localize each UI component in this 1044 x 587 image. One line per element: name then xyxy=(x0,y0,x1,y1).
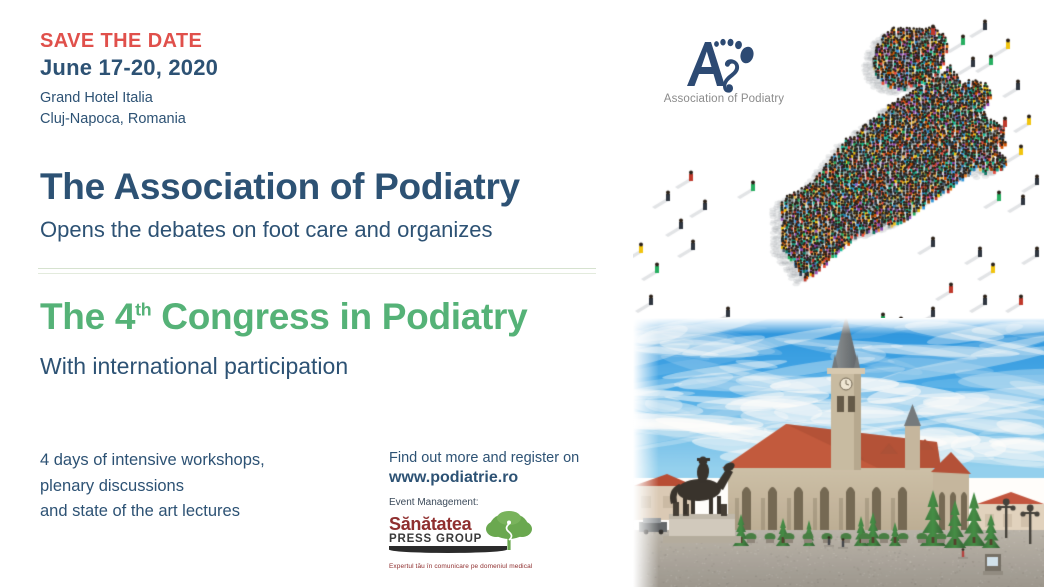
cluj-napoca-church-photo xyxy=(633,318,1044,587)
venue-block: Grand Hotel Italia Cluj-Napoca, Romania xyxy=(40,88,186,129)
save-the-date-label: SAVE THE DATE xyxy=(40,31,202,51)
divider-line-top xyxy=(38,268,596,269)
congress-subtitle: With international participation xyxy=(40,355,348,378)
event-dates: June 17-20, 2020 xyxy=(40,57,218,79)
ap-footprint-monogram-icon xyxy=(681,36,773,94)
event-management-block: Event Management: Sănătatea PRESS GROUP xyxy=(389,498,539,570)
left-text-column: SAVE THE DATE June 17-20, 2020 Grand Hot… xyxy=(0,0,640,587)
sanatatea-tagline: Expertul tău în comunicare pe domeniul m… xyxy=(389,563,539,570)
association-subtitle: Opens the debates on foot care and organ… xyxy=(40,219,493,241)
sanatatea-wordmark: Sănătatea xyxy=(389,516,482,533)
congress-title-rest: Congress in Podiatry xyxy=(151,296,527,337)
congress-title-prefix: The 4 xyxy=(40,296,135,337)
sanatatea-logo-text: Sănătatea PRESS GROUP xyxy=(389,516,482,546)
registration-lead: Find out more and register on xyxy=(389,449,579,467)
registration-block: Find out more and register on www.podiat… xyxy=(389,449,579,489)
association-title: The Association of Podiatry xyxy=(40,168,520,205)
venue-name: Grand Hotel Italia xyxy=(40,88,186,109)
association-logo-caption: Association of Podiatry xyxy=(649,93,799,105)
registration-url[interactable]: www.podiatrie.ro xyxy=(389,468,579,489)
venue-city: Cluj-Napoca, Romania xyxy=(40,109,186,130)
workshops-line-3: and state of the art lectures xyxy=(40,499,265,525)
congress-title-ordinal: th xyxy=(135,300,151,320)
divider-line-bottom xyxy=(38,273,596,274)
divider xyxy=(38,268,596,274)
event-management-label: Event Management: xyxy=(389,498,539,508)
photo-left-fade xyxy=(633,318,659,587)
cluj-napoca-church-canvas xyxy=(633,318,1044,587)
congress-promo-banner: SAVE THE DATE June 17-20, 2020 Grand Hot… xyxy=(0,0,1044,587)
workshops-line-2: plenary discussions xyxy=(40,474,265,500)
press-group-wordmark: PRESS GROUP xyxy=(389,533,482,546)
workshops-description: 4 days of intensive workshops, plenary d… xyxy=(40,448,265,525)
tree-caduceus-icon xyxy=(481,510,537,554)
photo-top-fade xyxy=(633,318,1044,334)
sanatatea-press-group-logo: Sănătatea PRESS GROUP xyxy=(389,512,539,558)
workshops-line-1: 4 days of intensive workshops, xyxy=(40,448,265,474)
association-of-podiatry-logo: Association of Podiatry xyxy=(649,36,799,114)
congress-title: The 4th Congress in Podiatry xyxy=(40,298,527,335)
